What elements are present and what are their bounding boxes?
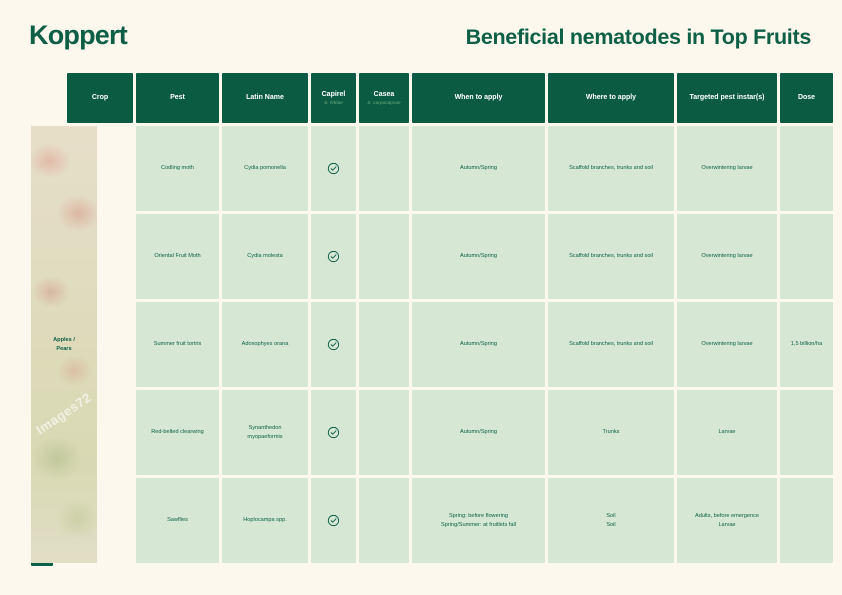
pest-name: Oriental Fruit Moth	[154, 252, 200, 261]
cell-targeted-pest-instars: Overwintering larvae	[677, 214, 777, 299]
koppert-logo: Koppert	[29, 22, 127, 49]
cell-when-to-apply: Spring: before floweringSpring/Summer: a…	[412, 478, 545, 563]
cell-dose	[780, 390, 833, 475]
targeted-pest-instar-line: Overwintering larvae	[701, 340, 752, 349]
cell-targeted-pest-instars: Adults, before emergenceLarvae	[677, 478, 777, 563]
table-row: Oriental Fruit MothCydia molestaAutumn/S…	[67, 214, 812, 299]
cell-capirel	[311, 302, 356, 387]
column-header-casea: Casea S. carpocapsae	[359, 73, 409, 123]
column-header-pest-label: Pest	[170, 93, 185, 102]
cell-capirel	[311, 214, 356, 299]
column-header-casea-label: Casea	[374, 90, 395, 99]
column-header-casea-species: S. carpocapsae	[367, 100, 400, 106]
column-header-pest: Pest	[136, 73, 219, 123]
cell-pest: Oriental Fruit Moth	[136, 214, 219, 299]
cell-where-to-apply: SoilSoil	[548, 478, 674, 563]
page-title: Beneficial nematodes in Top Fruits	[466, 27, 811, 49]
where-to-apply-line: Trunks	[603, 428, 620, 437]
when-to-apply-line: Autumn/Spring	[460, 164, 497, 173]
column-header-targeted-pest-instars-label: Targeted pest instar(s)	[690, 93, 765, 102]
when-to-apply-line: Autumn/Spring	[460, 428, 497, 437]
cell-pest: Red-belted clearwing	[136, 390, 219, 475]
column-header-where-to-apply: Where to apply	[548, 73, 674, 123]
cell-latin-name: Cydia pomonella	[222, 126, 308, 211]
nematodes-table: Crop Pest Latin Name Capirel S. feltiae …	[67, 73, 812, 568]
targeted-pest-instar-line: Overwintering larvae	[701, 252, 752, 261]
targeted-pest-instar-line: Adults, before emergence	[695, 512, 759, 521]
latin-name: Cydia pomonella	[244, 164, 286, 173]
column-header-when-to-apply: When to apply	[412, 73, 545, 123]
table-row: Red-belted clearwingSynanthedonmyopaefor…	[67, 390, 812, 475]
dose-value: 1,5 billion/ha	[791, 340, 822, 349]
cell-targeted-pest-instars: Larvae	[677, 390, 777, 475]
latin-name: Cydia molesta	[247, 252, 282, 261]
cell-latin-name: Synanthedonmyopaeformis	[222, 390, 308, 475]
cell-where-to-apply: Scaffold branches, trunks and soil	[548, 302, 674, 387]
table-body: Codling mothCydia pomonellaAutumn/Spring…	[67, 126, 812, 563]
check-circle-icon	[327, 514, 340, 527]
column-header-capirel: Capirel S. feltiae	[311, 73, 356, 123]
table-header-row: Crop Pest Latin Name Capirel S. feltiae …	[67, 73, 812, 123]
cell-casea	[359, 302, 409, 387]
cell-capirel	[311, 478, 356, 563]
cell-latin-name: Adoxophyes orana	[222, 302, 308, 387]
cell-casea	[359, 214, 409, 299]
latin-name: Adoxophyes orana	[242, 340, 289, 349]
targeted-pest-instar-line: Overwintering larvae	[701, 164, 752, 173]
cell-pest: Codling moth	[136, 126, 219, 211]
column-header-crop-label: Crop	[92, 93, 108, 102]
cell-dose	[780, 478, 833, 563]
table-row: SawfliesHoplocampa spp.Spring: before fl…	[67, 478, 812, 563]
check-circle-icon	[327, 426, 340, 439]
cell-targeted-pest-instars: Overwintering larvae	[677, 126, 777, 211]
column-header-when-to-apply-label: When to apply	[455, 93, 503, 102]
cell-dose	[780, 214, 833, 299]
when-to-apply-line: Autumn/Spring	[460, 340, 497, 349]
cell-when-to-apply: Autumn/Spring	[412, 126, 545, 211]
column-header-capirel-label: Capirel	[322, 90, 346, 99]
poster-page: Koppert Beneficial nematodes in Top Frui…	[0, 0, 842, 595]
cell-dose	[780, 126, 833, 211]
where-to-apply-line: Scaffold branches, trunks and soil	[569, 340, 653, 349]
cell-pest: Sawflies	[136, 478, 219, 563]
column-header-dose-label: Dose	[798, 93, 815, 102]
cell-latin-name: Cydia molesta	[222, 214, 308, 299]
check-circle-icon	[327, 250, 340, 263]
cell-when-to-apply: Autumn/Spring	[412, 302, 545, 387]
cell-dose: 1,5 billion/ha	[780, 302, 833, 387]
cell-capirel	[311, 390, 356, 475]
when-to-apply-line: Autumn/Spring	[460, 252, 497, 261]
cell-pest: Summer fruit tortrix	[136, 302, 219, 387]
latin-name: Hoplocampa spp.	[243, 516, 287, 525]
table-area: Top Fruits Crop Pest Latin Name Capirel …	[31, 73, 812, 568]
cell-capirel	[311, 126, 356, 211]
cell-targeted-pest-instars: Overwintering larvae	[677, 302, 777, 387]
crop-image-cell: Images72Apples /Pears	[31, 126, 97, 563]
cell-casea	[359, 478, 409, 563]
column-header-latin-name-label: Latin Name	[246, 93, 284, 102]
column-header-targeted-pest-instars: Targeted pest instar(s)	[677, 73, 777, 123]
cell-casea	[359, 126, 409, 211]
cell-latin-name: Hoplocampa spp.	[222, 478, 308, 563]
targeted-pest-instar-line: Larvae	[718, 428, 735, 437]
where-to-apply-line: Soil	[606, 521, 615, 530]
latin-name: Synanthedonmyopaeformis	[247, 424, 282, 441]
where-to-apply-line: Scaffold branches, trunks and soil	[569, 252, 653, 261]
column-header-capirel-species: S. feltiae	[324, 100, 343, 106]
cell-when-to-apply: Autumn/Spring	[412, 214, 545, 299]
crop-name-label: Apples /Pears	[53, 336, 75, 354]
column-header-dose: Dose	[780, 73, 833, 123]
where-to-apply-line: Soil	[606, 512, 615, 521]
column-header-crop: Crop	[67, 73, 133, 123]
check-circle-icon	[327, 338, 340, 351]
cell-where-to-apply: Trunks	[548, 390, 674, 475]
when-to-apply-line: Spring/Summer: at fruitlets fall	[441, 521, 516, 530]
table-row: Codling mothCydia pomonellaAutumn/Spring…	[67, 126, 812, 211]
cell-when-to-apply: Autumn/Spring	[412, 390, 545, 475]
page-header: Koppert Beneficial nematodes in Top Frui…	[0, 0, 842, 70]
pest-name: Red-belted clearwing	[151, 428, 204, 437]
check-circle-icon	[327, 162, 340, 175]
pest-name: Sawflies	[167, 516, 188, 525]
where-to-apply-line: Scaffold branches, trunks and soil	[569, 164, 653, 173]
column-header-latin-name: Latin Name	[222, 73, 308, 123]
when-to-apply-line: Spring: before flowering	[449, 512, 508, 521]
cell-casea	[359, 390, 409, 475]
pest-name: Summer fruit tortrix	[154, 340, 202, 349]
targeted-pest-instar-line: Larvae	[718, 521, 735, 530]
cell-where-to-apply: Scaffold branches, trunks and soil	[548, 214, 674, 299]
cell-where-to-apply: Scaffold branches, trunks and soil	[548, 126, 674, 211]
column-header-where-to-apply-label: Where to apply	[586, 93, 636, 102]
table-row: Summer fruit tortrixAdoxophyes oranaAutu…	[67, 302, 812, 387]
pest-name: Codling moth	[161, 164, 194, 173]
